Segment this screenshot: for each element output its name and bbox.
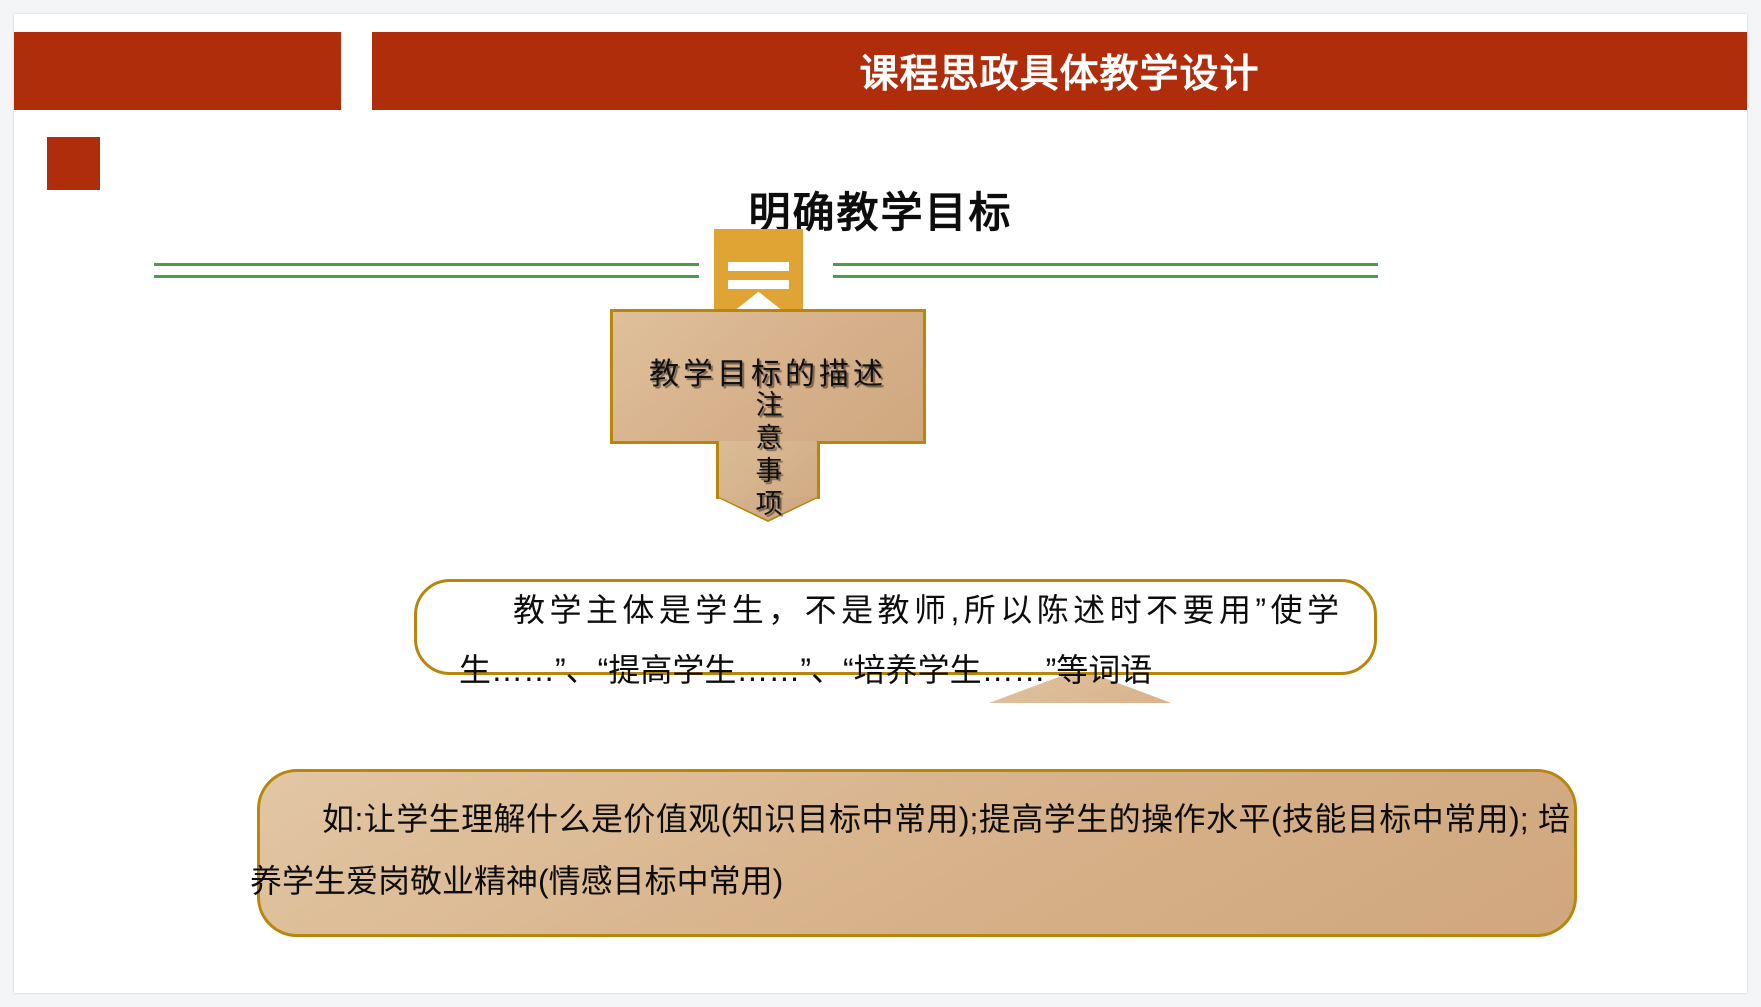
header-title: 课程思政具体教学设计	[372, 32, 1747, 110]
callout-white-text: 教学主体是学生，不是教师,所以陈述时不要用”使学生……”、“提高学生……”、“培…	[459, 580, 1339, 700]
page-title: 明确教学目标	[14, 179, 1747, 240]
callout-tan-box: 如:让学生理解什么是价值观(知识目标中常用);提高学生的操作水平(技能目标中常用…	[257, 769, 1577, 937]
callout-white-box: 教学主体是学生，不是教师,所以陈述时不要用”使学生……”、“提高学生……”、“培…	[414, 579, 1377, 675]
equals-icon-bar-bottom	[728, 280, 789, 289]
equals-icon-bar-top	[728, 262, 789, 271]
divider-line-left	[154, 263, 699, 278]
callout-tan-text: 如:让学生理解什么是价值观(知识目标中常用);提高学生的操作水平(技能目标中常用…	[250, 788, 1570, 912]
slide-canvas: 课程思政具体教学设计 明确教学目标 教学目标的描述 注意事项 教学主体是学生，不…	[14, 14, 1747, 993]
divider-line-right	[833, 263, 1378, 278]
down-arrow-shape: 教学目标的描述 注意事项	[610, 309, 926, 522]
header-accent-block	[14, 32, 341, 110]
arrow-vertical-label: 注意事项	[751, 389, 787, 521]
arrow-title-text: 教学目标的描述	[610, 349, 926, 393]
